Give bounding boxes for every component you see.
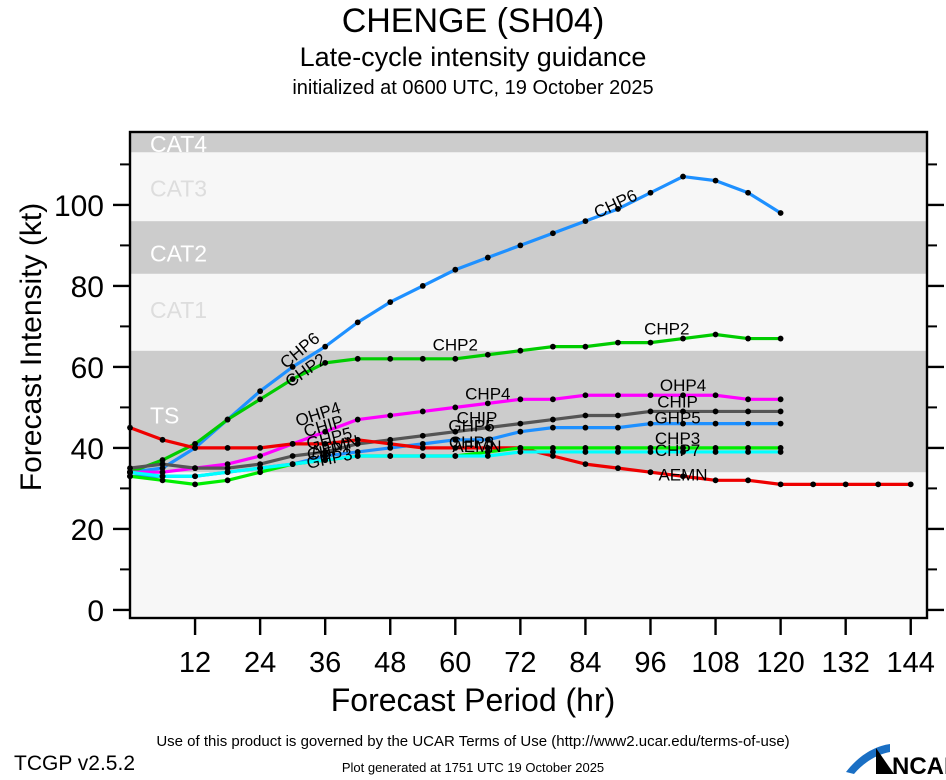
series-label-aemn: AEMN xyxy=(658,465,707,484)
data-point-chip xyxy=(778,409,784,415)
data-point-aemn xyxy=(713,477,719,483)
category-band-ts xyxy=(130,351,927,473)
data-point-chp2 xyxy=(387,356,393,362)
y-tick-label: 60 xyxy=(71,352,104,385)
data-point-chp7 xyxy=(225,469,231,475)
data-point-chp2 xyxy=(583,344,589,350)
data-point-chp6 xyxy=(583,218,589,224)
y-tick-label: 100 xyxy=(54,190,104,223)
data-point-chp4 xyxy=(355,417,361,423)
data-point-aemn xyxy=(778,481,784,487)
data-point-chp4 xyxy=(778,396,784,402)
x-tick-label: 108 xyxy=(691,647,739,678)
data-point-chp7 xyxy=(583,449,589,455)
data-point-chp2 xyxy=(550,344,556,350)
data-point-chp3 xyxy=(225,477,231,483)
data-point-chp7 xyxy=(778,449,784,455)
data-point-chp7 xyxy=(290,461,296,467)
initialization-time: initialized at 0600 UTC, 19 October 2025 xyxy=(0,75,946,101)
data-point-chp6 xyxy=(420,283,426,289)
data-point-chp2 xyxy=(648,340,654,346)
series-label-chp2: CHP2 xyxy=(433,336,478,355)
data-point-chp2 xyxy=(452,356,458,362)
x-tick-label: 60 xyxy=(439,647,471,678)
data-point-chip xyxy=(583,413,589,419)
x-tick-label: 96 xyxy=(634,647,666,678)
data-point-chp4 xyxy=(745,396,751,402)
series-label-chp2: CHP2 xyxy=(644,320,689,339)
band-label-cat3: CAT3 xyxy=(150,176,207,202)
band-label-cat1: CAT1 xyxy=(150,297,207,323)
y-tick-label: 80 xyxy=(71,271,104,304)
data-point-aemn xyxy=(387,441,393,447)
series-label-ghp5: GHP5 xyxy=(654,409,700,428)
data-point-chip xyxy=(745,409,751,415)
data-point-ghp5 xyxy=(615,425,621,431)
data-point-ghp5 xyxy=(778,421,784,427)
x-tick-label: 84 xyxy=(569,647,601,678)
data-point-chp6 xyxy=(322,344,328,350)
data-point-chp4 xyxy=(583,392,589,398)
data-point-chp2 xyxy=(420,356,426,362)
data-point-aemn xyxy=(875,481,881,487)
data-point-chp2 xyxy=(778,336,784,342)
data-point-chip xyxy=(160,461,166,467)
data-point-chp6 xyxy=(680,174,686,180)
x-tick-label: 48 xyxy=(374,647,406,678)
data-point-chip xyxy=(290,453,296,459)
page-title: CHENGE (SH04) xyxy=(0,2,946,40)
data-point-chip xyxy=(550,417,556,423)
data-point-chp4 xyxy=(517,396,523,402)
series-label-chp4: CHP4 xyxy=(465,384,510,403)
data-point-aemn xyxy=(908,481,914,487)
data-point-aemn xyxy=(583,461,589,467)
data-point-chp4 xyxy=(648,392,654,398)
data-point-chip xyxy=(192,465,198,471)
category-bands-group xyxy=(130,132,927,618)
data-point-aemn xyxy=(615,465,621,471)
x-tick-label: 132 xyxy=(821,647,869,678)
data-point-aemn xyxy=(257,445,263,451)
x-tick-label: 144 xyxy=(887,647,935,678)
data-point-chp4 xyxy=(420,409,426,415)
y-tick-label: 20 xyxy=(71,514,104,547)
data-point-chp6 xyxy=(778,210,784,216)
data-point-ghp5 xyxy=(517,429,523,435)
plot-generated-text: Plot generated at 1751 UTC 19 October 20… xyxy=(0,760,946,775)
data-point-ghp5 xyxy=(583,425,589,431)
intensity-chart: TSCAT1CAT2CAT3CAT4 CHP6CHP6CHP2CHP2CHP2O… xyxy=(0,118,946,678)
data-point-chp7 xyxy=(160,473,166,479)
band-label-ts: TS xyxy=(150,403,179,429)
data-point-chip xyxy=(420,433,426,439)
series-label-chp3: CHP3 xyxy=(449,433,494,452)
data-point-aemn xyxy=(648,469,654,475)
page-subtitle: Late-cycle intensity guidance xyxy=(0,41,946,73)
category-band-cat2 xyxy=(130,221,927,274)
y-tick-label: 0 xyxy=(87,595,104,628)
data-point-aemn xyxy=(810,481,816,487)
band-label-cat4: CAT4 xyxy=(150,131,207,157)
data-point-ghp5 xyxy=(648,421,654,427)
x-tick-label: 12 xyxy=(179,647,211,678)
x-axis-label: Forecast Period (hr) xyxy=(0,682,946,719)
data-point-chp2 xyxy=(225,417,231,423)
data-point-aemn xyxy=(192,445,198,451)
data-point-ghp5 xyxy=(745,421,751,427)
data-point-chp6 xyxy=(550,230,556,236)
data-point-aemn xyxy=(225,445,231,451)
data-point-chp2 xyxy=(257,396,263,402)
data-point-chp7 xyxy=(257,465,263,471)
ncar-logo: NCAR xyxy=(846,742,946,778)
title-block: CHENGE (SH04) Late-cycle intensity guida… xyxy=(0,0,946,101)
data-point-chp6 xyxy=(713,178,719,184)
data-point-chp6 xyxy=(745,190,751,196)
data-point-chp6 xyxy=(517,243,523,249)
version-text: TCGP v2.5.2 xyxy=(14,752,135,776)
data-point-chp7 xyxy=(615,449,621,455)
data-point-chp7 xyxy=(192,473,198,479)
data-point-chp4 xyxy=(615,392,621,398)
data-point-chp4 xyxy=(550,396,556,402)
data-point-chp7 xyxy=(355,453,361,459)
data-point-chp4 xyxy=(257,453,263,459)
data-point-aemn xyxy=(160,437,166,443)
data-point-chp4 xyxy=(713,392,719,398)
data-point-aemn xyxy=(290,441,296,447)
data-point-chip xyxy=(517,421,523,427)
ncar-logo-text: NCAR xyxy=(892,753,946,778)
x-tick-label: 24 xyxy=(244,647,276,678)
data-point-chp6 xyxy=(452,267,458,273)
data-point-chp6 xyxy=(485,255,491,261)
forecast-plot-page: CHENGE (SH04) Late-cycle intensity guida… xyxy=(0,0,946,780)
data-point-chp6 xyxy=(648,190,654,196)
x-tick-label: 120 xyxy=(756,647,804,678)
data-point-aemn xyxy=(745,477,751,483)
x-tick-label: 72 xyxy=(504,647,536,678)
data-point-chp3 xyxy=(192,481,198,487)
data-point-chip xyxy=(648,409,654,415)
data-point-chp7 xyxy=(745,449,751,455)
data-point-chp2 xyxy=(485,352,491,358)
data-point-chp2 xyxy=(355,356,361,362)
data-point-chp6 xyxy=(387,299,393,305)
data-point-chp7 xyxy=(550,449,556,455)
data-point-aemn xyxy=(420,445,426,451)
data-point-chp7 xyxy=(387,453,393,459)
category-band-cat1 xyxy=(130,274,927,351)
data-point-aemn xyxy=(843,481,849,487)
y-tick-label: 40 xyxy=(71,433,104,466)
data-point-chp2 xyxy=(745,336,751,342)
terms-of-use-text: Use of this product is governed by the U… xyxy=(0,733,946,750)
data-point-ghp5 xyxy=(713,421,719,427)
data-point-chp6 xyxy=(257,388,263,394)
data-point-chp7 xyxy=(420,453,426,459)
data-point-chp7 xyxy=(517,449,523,455)
data-point-chip xyxy=(713,409,719,415)
data-point-chip xyxy=(615,413,621,419)
category-band-cat3 xyxy=(130,152,927,221)
series-label-chp7: CHP7 xyxy=(655,441,700,460)
band-label-cat2: CAT2 xyxy=(150,241,207,267)
data-point-ghp5 xyxy=(550,425,556,431)
data-point-chp4 xyxy=(387,413,393,419)
category-band-cat4 xyxy=(130,132,927,152)
data-point-chp2 xyxy=(713,332,719,338)
data-point-chp7 xyxy=(713,449,719,455)
data-point-chp2 xyxy=(615,340,621,346)
data-point-chp7 xyxy=(648,449,654,455)
x-tick-label: 36 xyxy=(309,647,341,678)
data-point-chp2 xyxy=(517,348,523,354)
data-point-chp6 xyxy=(355,319,361,325)
